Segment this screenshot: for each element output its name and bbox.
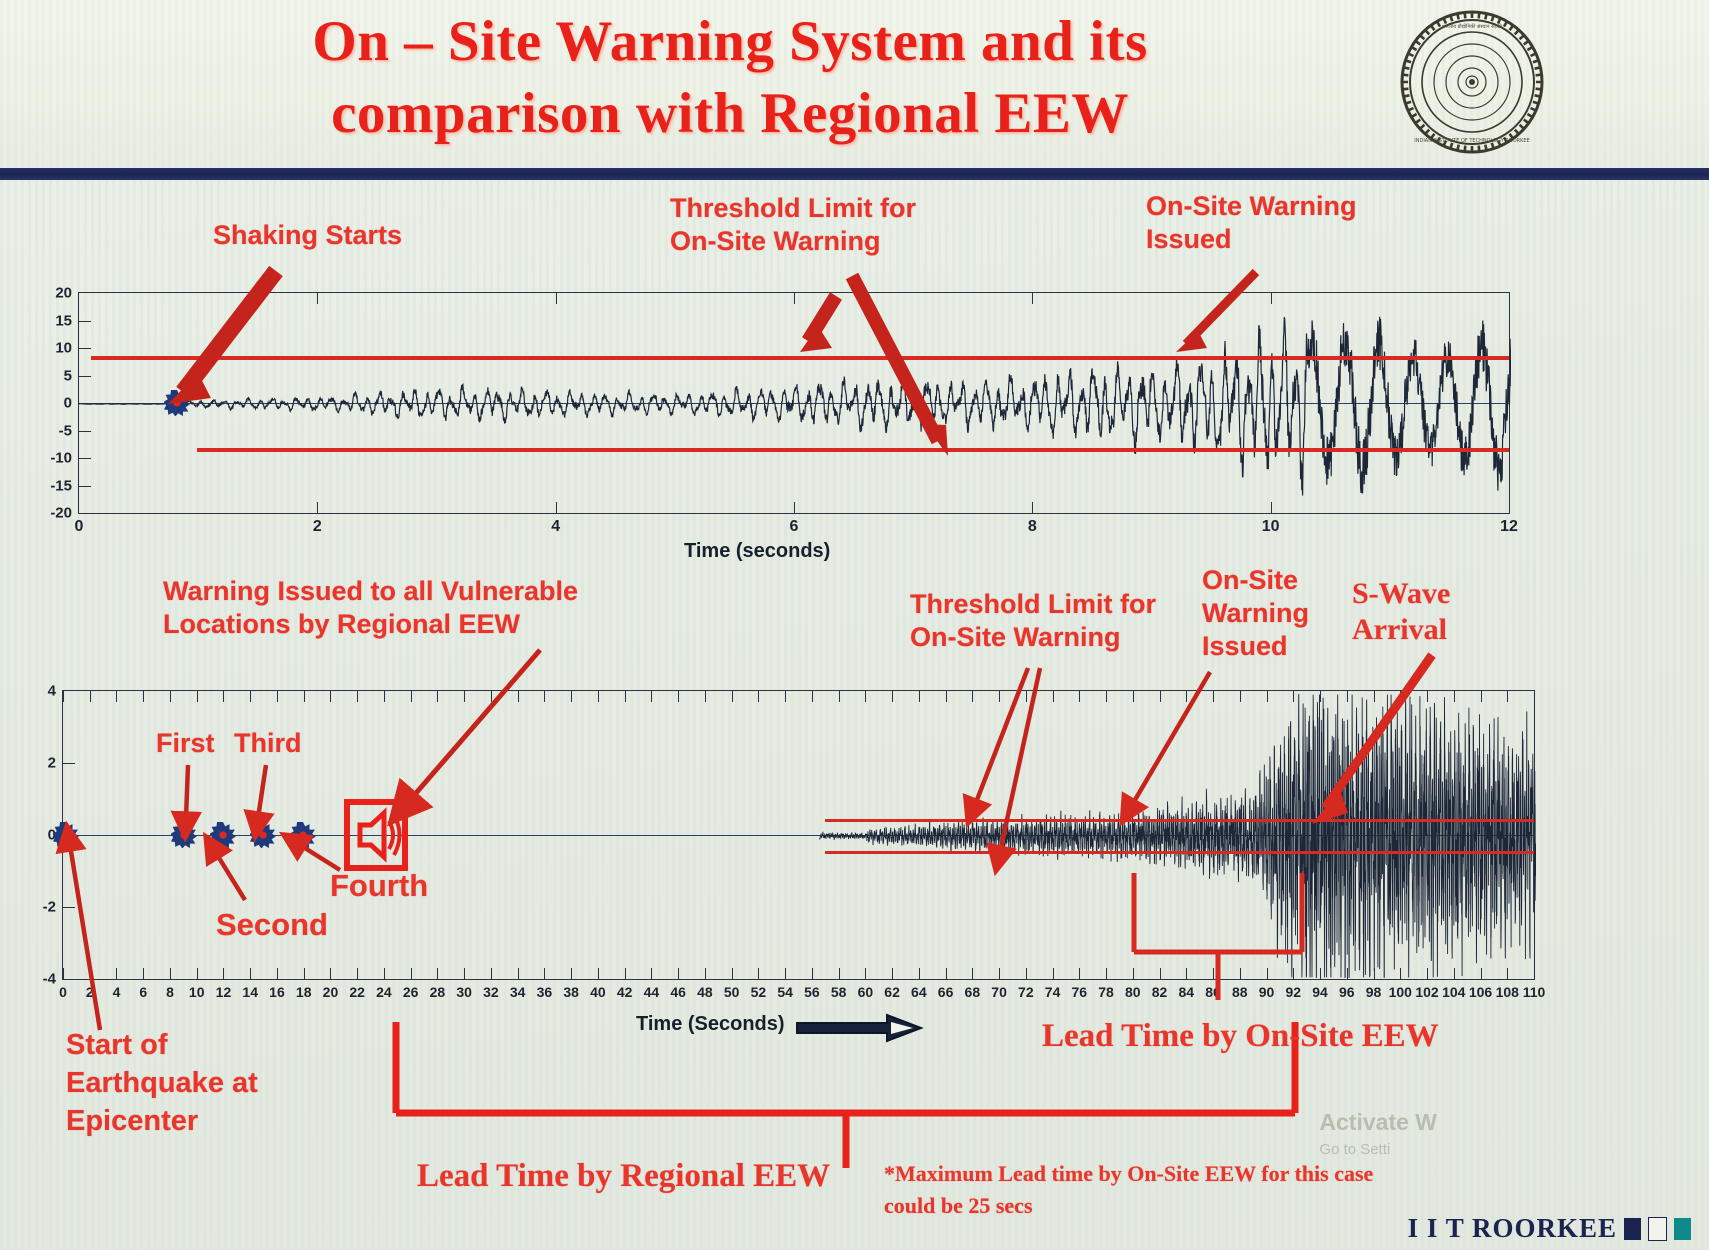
bottom-xtickmark: [1293, 691, 1294, 702]
bottom-xtickmark: [518, 691, 519, 702]
bottom-xtickmark: [1347, 968, 1348, 979]
first-warning-marker-icon: [171, 822, 197, 848]
bottom-xtickmark: [330, 968, 331, 979]
bottom-xtickmark: [1240, 691, 1241, 702]
bottom-xtick-34: 34: [505, 984, 531, 1000]
shaking-starts-annotation: Shaking Starts: [213, 219, 402, 252]
bottom-xtickmark: [357, 691, 358, 702]
top-xtickmark: [1032, 293, 1033, 304]
iit-roorkee-brand: I I T ROORKEE: [1408, 1213, 1691, 1244]
bottom-xtickmark: [946, 968, 947, 979]
top-chart-x-axis-label: Time (seconds): [684, 540, 830, 563]
svg-text:INDIAN INSTITUTE OF TECHNOLOGY: INDIAN INSTITUTE OF TECHNOLOGY ROORKEE: [1414, 138, 1530, 144]
bottom-xtickmark: [865, 691, 866, 702]
bottom-xtickmark: [90, 968, 91, 979]
bottom-xtickmark: [678, 691, 679, 702]
bottom-xtickmark: [946, 691, 947, 702]
top-xtick-4: 4: [536, 518, 576, 536]
title-divider: [0, 168, 1709, 180]
bottom-xtick-94: 94: [1307, 984, 1333, 1000]
bottom-xtick-0: 0: [50, 984, 76, 1000]
start-of-earthquake-annotation: Start of Earthquake at Epicenter: [66, 1026, 258, 1140]
iit-roorkee-logo-icon: भारतीय प्रौद्योगिकी संस्थान रुड़की INDIA…: [1398, 8, 1546, 156]
bottom-xtick-58: 58: [826, 984, 852, 1000]
brand-square-white: [1648, 1217, 1667, 1241]
top-xtickmark: [794, 293, 795, 304]
bottom-xtick-22: 22: [344, 984, 370, 1000]
bottom-xtick-48: 48: [692, 984, 718, 1000]
bottom-ytick-m2: -2: [10, 899, 56, 916]
bottom-ytick-4: 4: [10, 683, 56, 700]
top-xtick-8: 8: [1012, 518, 1052, 536]
bottom-xtick-78: 78: [1093, 984, 1119, 1000]
bottom-xtick-46: 46: [665, 984, 691, 1000]
bottom-xtick-76: 76: [1066, 984, 1092, 1000]
bottom-xtickmark: [1213, 691, 1214, 702]
top-ytick-20: 20: [26, 285, 72, 302]
bottom-xtickmark: [223, 968, 224, 979]
top-zero-axis: [79, 403, 1509, 404]
bottom-xtickmark: [1240, 968, 1241, 979]
bottom-xtickmark: [999, 968, 1000, 979]
bottom-xtick-98: 98: [1361, 984, 1387, 1000]
bottom-xtick-82: 82: [1147, 984, 1173, 1000]
bottom-xtickmark: [116, 691, 117, 702]
top-ytickmark: [79, 486, 91, 487]
bottom-xtick-32: 32: [478, 984, 504, 1000]
bottom-xtickmark: [1160, 968, 1161, 979]
bottom-xtickmark: [1454, 968, 1455, 979]
shaking-starts-marker-icon: [164, 390, 190, 416]
bottom-xtickmark: [812, 968, 813, 979]
bottom-xtickmark: [651, 691, 652, 702]
bottom-xtick-66: 66: [933, 984, 959, 1000]
top-xtickmark: [556, 502, 557, 513]
bottom-xtick-56: 56: [799, 984, 825, 1000]
bottom-xtickmark: [972, 968, 973, 979]
bottom-xtick-102: 102: [1414, 984, 1440, 1000]
bottom-xtickmark: [705, 691, 706, 702]
bottom-xtick-18: 18: [291, 984, 317, 1000]
bottom-xtick-26: 26: [398, 984, 424, 1000]
top-ytick-m15: -15: [26, 477, 72, 494]
bottom-xtickmark: [1026, 691, 1027, 702]
top-xtickmark: [317, 293, 318, 304]
bottom-xtickmark: [357, 968, 358, 979]
bottom-xtickmark: [919, 691, 920, 702]
regional-warning-speaker-icon: [344, 799, 408, 871]
bottom-xtick-86: 86: [1200, 984, 1226, 1000]
bottom-xtickmark: [330, 691, 331, 702]
bottom-xtickmark: [518, 968, 519, 979]
bottom-xtickmark: [277, 968, 278, 979]
regional-warning-annotation: Warning Issued to all Vulnerable Locatio…: [163, 575, 578, 641]
bottom-ytick-0: 0: [10, 827, 56, 844]
bottom-xtickmark: [90, 691, 91, 702]
bottom-xtickmark: [1026, 968, 1027, 979]
bottom-xtickmark: [972, 691, 973, 702]
windows-activate-watermark: Activate W Go to Setti: [1319, 1108, 1437, 1164]
bottom-xtickmark: [1400, 968, 1401, 979]
bottom-xtickmark: [1079, 691, 1080, 702]
bottom-xtickmark: [1133, 968, 1134, 979]
bottom-xtickmark: [304, 691, 305, 702]
top-xtickmark: [1032, 502, 1033, 513]
bottom-xtick-106: 106: [1468, 984, 1494, 1000]
bottom-xtick-60: 60: [852, 984, 878, 1000]
bottom-xtickmark: [571, 968, 572, 979]
top-xtick-6: 6: [774, 518, 814, 536]
bottom-xtickmark: [1507, 968, 1508, 979]
bottom-xtickmark: [411, 968, 412, 979]
bottom-xtickmark: [839, 691, 840, 702]
top-on-site-warning-issued-annotation: On-Site Warning Issued: [1146, 190, 1357, 256]
bottom-xtickmark: [63, 691, 64, 702]
bottom-xtickmark: [785, 968, 786, 979]
bottom-xtick-52: 52: [745, 984, 771, 1000]
bottom-ytick-2: 2: [10, 755, 56, 772]
slide-canvas: On – Site Warning System and its compari…: [0, 0, 1709, 1250]
top-xtick-12: 12: [1489, 518, 1529, 536]
top-ytick-0: 0: [26, 395, 72, 412]
bottom-xtick-12: 12: [210, 984, 236, 1000]
bottom-xtickmark: [919, 968, 920, 979]
bottom-xtick-16: 16: [264, 984, 290, 1000]
bottom-xtickmark: [1213, 968, 1214, 979]
s-wave-arrival-annotation: S-Wave Arrival: [1352, 576, 1450, 648]
bottom-xtick-54: 54: [772, 984, 798, 1000]
bottom-xtickmark: [544, 691, 545, 702]
bottom-xtickmark: [464, 691, 465, 702]
bottom-xtickmark: [1267, 691, 1268, 702]
page-title-line-1: On – Site Warning System and its: [150, 6, 1310, 78]
time-direction-arrow-icon: [795, 1013, 925, 1043]
bottom-xtickmark: [1053, 691, 1054, 702]
bottom-xtick-24: 24: [371, 984, 397, 1000]
bottom-ytickmark: [63, 763, 75, 764]
bottom-xtick-74: 74: [1040, 984, 1066, 1000]
bottom-xtickmark: [678, 968, 679, 979]
page-title-line-2: comparison with Regional EEW: [150, 78, 1310, 150]
top-xtick-10: 10: [1251, 518, 1291, 536]
top-ytick-5: 5: [26, 367, 72, 384]
bottom-xtickmark: [1079, 968, 1080, 979]
bottom-xtickmark: [170, 691, 171, 702]
bottom-xtickmark: [63, 968, 64, 979]
bottom-xtickmark: [437, 691, 438, 702]
bottom-xtick-8: 8: [157, 984, 183, 1000]
bottom-xtickmark: [625, 968, 626, 979]
top-xtickmark: [1271, 293, 1272, 304]
top-xtick-2: 2: [297, 518, 337, 536]
bottom-xtickmark: [197, 968, 198, 979]
bottom-xtickmark: [491, 968, 492, 979]
second-warning-annotation: Second: [216, 908, 328, 941]
bottom-ytickmark: [63, 907, 75, 908]
bottom-xtickmark: [598, 968, 599, 979]
bottom-xtickmark: [758, 968, 759, 979]
brand-square-navy: [1624, 1218, 1641, 1240]
fourth-warning-annotation: Fourth: [330, 869, 428, 902]
lead-time-regional-eew-label: Lead Time by Regional EEW: [417, 1158, 830, 1194]
bottom-xtick-88: 88: [1227, 984, 1253, 1000]
bottom-xtick-108: 108: [1494, 984, 1520, 1000]
bottom-xtickmark: [732, 968, 733, 979]
bottom-xtickmark: [705, 968, 706, 979]
bottom-xtickmark: [1106, 691, 1107, 702]
watermark-line-1: Activate W: [1319, 1108, 1437, 1136]
brand-text: I I T ROORKEE: [1408, 1213, 1617, 1244]
brand-square-teal: [1674, 1218, 1691, 1240]
top-xtickmark: [1271, 502, 1272, 513]
bottom-xtickmark: [651, 968, 652, 979]
top-ytick-15: 15: [26, 312, 72, 329]
bottom-xtickmark: [250, 968, 251, 979]
bottom-xtickmark: [1347, 691, 1348, 702]
top-xtickmark: [556, 293, 557, 304]
top-upper-threshold-line: [91, 356, 1509, 360]
bottom-xtickmark: [277, 691, 278, 702]
bottom-xtick-72: 72: [1013, 984, 1039, 1000]
bottom-xtickmark: [812, 691, 813, 702]
bottom-xtick-20: 20: [317, 984, 343, 1000]
bottom-xtickmark: [892, 691, 893, 702]
bottom-xtickmark: [143, 691, 144, 702]
bottom-xtick-50: 50: [719, 984, 745, 1000]
svg-text:भारतीय प्रौद्योगिकी संस्थान रु: भारतीय प्रौद्योगिकी संस्थान रुड़की: [1442, 23, 1502, 30]
bottom-xtick-36: 36: [531, 984, 557, 1000]
bottom-xtick-100: 100: [1387, 984, 1413, 1000]
bottom-xtickmark: [785, 691, 786, 702]
bottom-xtickmark: [1374, 968, 1375, 979]
bottom-xtickmark: [437, 968, 438, 979]
bottom-xtickmark: [999, 691, 1000, 702]
first-warning-annotation: First: [156, 727, 215, 760]
bottom-upper-threshold-line: [825, 819, 1534, 822]
bottom-xtick-80: 80: [1120, 984, 1146, 1000]
bottom-xtickmark: [1320, 968, 1321, 979]
bottom-xtickmark: [1534, 968, 1535, 979]
bottom-zero-axis: [63, 835, 1534, 836]
top-xtickmark: [794, 502, 795, 513]
bottom-xtickmark: [1186, 691, 1187, 702]
bottom-threshold-limit-annotation: Threshold Limit for On-Site Warning: [910, 588, 1156, 654]
bottom-xtickmark: [116, 968, 117, 979]
third-warning-marker-icon: [250, 822, 276, 848]
second-warning-marker-icon: [210, 822, 236, 848]
bottom-xtick-6: 6: [130, 984, 156, 1000]
top-ytickmark: [79, 431, 91, 432]
bottom-on-site-warning-issued-annotation: On-Site Warning Issued: [1202, 564, 1309, 663]
bottom-xtickmark: [464, 968, 465, 979]
bottom-xtickmark: [1481, 691, 1482, 702]
bottom-xtick-30: 30: [451, 984, 477, 1000]
bottom-xtick-96: 96: [1334, 984, 1360, 1000]
bottom-xtickmark: [1400, 691, 1401, 702]
top-ytickmark: [79, 321, 91, 322]
bottom-xtickmark: [758, 691, 759, 702]
start-of-earthquake-marker-icon: [53, 822, 79, 848]
bottom-lower-threshold-line: [825, 851, 1534, 854]
fourth-warning-marker-icon: [290, 822, 316, 848]
top-threshold-limit-annotation: Threshold Limit for On-Site Warning: [670, 192, 916, 258]
bottom-xtick-10: 10: [184, 984, 210, 1000]
bottom-xtickmark: [197, 691, 198, 702]
top-chart-seismogram: [79, 293, 1511, 515]
top-xtickmark: [317, 502, 318, 513]
top-ytickmark: [79, 376, 91, 377]
bottom-xtickmark: [1106, 968, 1107, 979]
bottom-xtickmark: [839, 968, 840, 979]
bottom-xtickmark: [143, 968, 144, 979]
bottom-xtick-14: 14: [237, 984, 263, 1000]
bottom-xtick-2: 2: [77, 984, 103, 1000]
third-warning-annotation: Third: [234, 727, 302, 760]
bottom-xtickmark: [1507, 691, 1508, 702]
bottom-xtick-68: 68: [959, 984, 985, 1000]
bottom-xtickmark: [1293, 968, 1294, 979]
bottom-xtick-104: 104: [1441, 984, 1467, 1000]
top-ytickmark: [79, 348, 91, 349]
bottom-xtick-62: 62: [879, 984, 905, 1000]
bottom-xtick-64: 64: [906, 984, 932, 1000]
bottom-xtickmark: [1267, 968, 1268, 979]
bottom-xtick-28: 28: [424, 984, 450, 1000]
bottom-xtickmark: [1160, 691, 1161, 702]
bottom-xtick-70: 70: [986, 984, 1012, 1000]
bottom-xtickmark: [1374, 691, 1375, 702]
bottom-xtickmark: [384, 968, 385, 979]
bottom-xtickmark: [1534, 691, 1535, 702]
lead-time-on-site-eew-label: Lead Time by On-Site EEW: [1042, 1018, 1439, 1054]
bottom-xtickmark: [625, 691, 626, 702]
bottom-xtick-44: 44: [638, 984, 664, 1000]
top-ytick-10: 10: [26, 340, 72, 357]
bottom-xtick-92: 92: [1280, 984, 1306, 1000]
bottom-xtickmark: [170, 968, 171, 979]
bottom-xtick-38: 38: [558, 984, 584, 1000]
bottom-xtickmark: [1481, 968, 1482, 979]
top-xtick-0: 0: [59, 518, 99, 536]
bottom-xtick-40: 40: [585, 984, 611, 1000]
bottom-xtickmark: [1427, 691, 1428, 702]
bottom-xtickmark: [571, 691, 572, 702]
bottom-xtick-90: 90: [1254, 984, 1280, 1000]
bottom-xtick-84: 84: [1173, 984, 1199, 1000]
bottom-xtickmark: [304, 968, 305, 979]
bottom-xtickmark: [411, 691, 412, 702]
top-chart-plot-area: 20 15 10 5 0 -5 -10 -15 -20: [78, 292, 1510, 514]
bottom-xtickmark: [1320, 691, 1321, 702]
bottom-xtickmark: [223, 691, 224, 702]
bottom-xtickmark: [892, 968, 893, 979]
bottom-chart-x-axis-label: Time (Seconds): [636, 1013, 785, 1036]
bottom-xtickmark: [1454, 691, 1455, 702]
bottom-xtickmark: [544, 968, 545, 979]
bottom-xtickmark: [732, 691, 733, 702]
bottom-xtickmark: [1427, 968, 1428, 979]
page-title: On – Site Warning System and its compari…: [150, 6, 1310, 150]
bottom-xtick-4: 4: [103, 984, 129, 1000]
bottom-xtickmark: [598, 691, 599, 702]
bottom-xtickmark: [384, 691, 385, 702]
top-lower-threshold-line: [197, 448, 1509, 452]
footnote-label: *Maximum Lead time by On-Site EEW for th…: [884, 1158, 1373, 1222]
top-ytick-m10: -10: [26, 450, 72, 467]
bottom-xtickmark: [491, 691, 492, 702]
bottom-xtickmark: [1053, 968, 1054, 979]
bottom-xtick-110: 110: [1521, 984, 1547, 1000]
bottom-xtickmark: [250, 691, 251, 702]
bottom-xtick-42: 42: [612, 984, 638, 1000]
bottom-xtickmark: [1186, 968, 1187, 979]
top-ytick-m5: -5: [26, 422, 72, 439]
bottom-xtickmark: [1133, 691, 1134, 702]
top-ytickmark: [79, 458, 91, 459]
bottom-xtickmark: [865, 968, 866, 979]
